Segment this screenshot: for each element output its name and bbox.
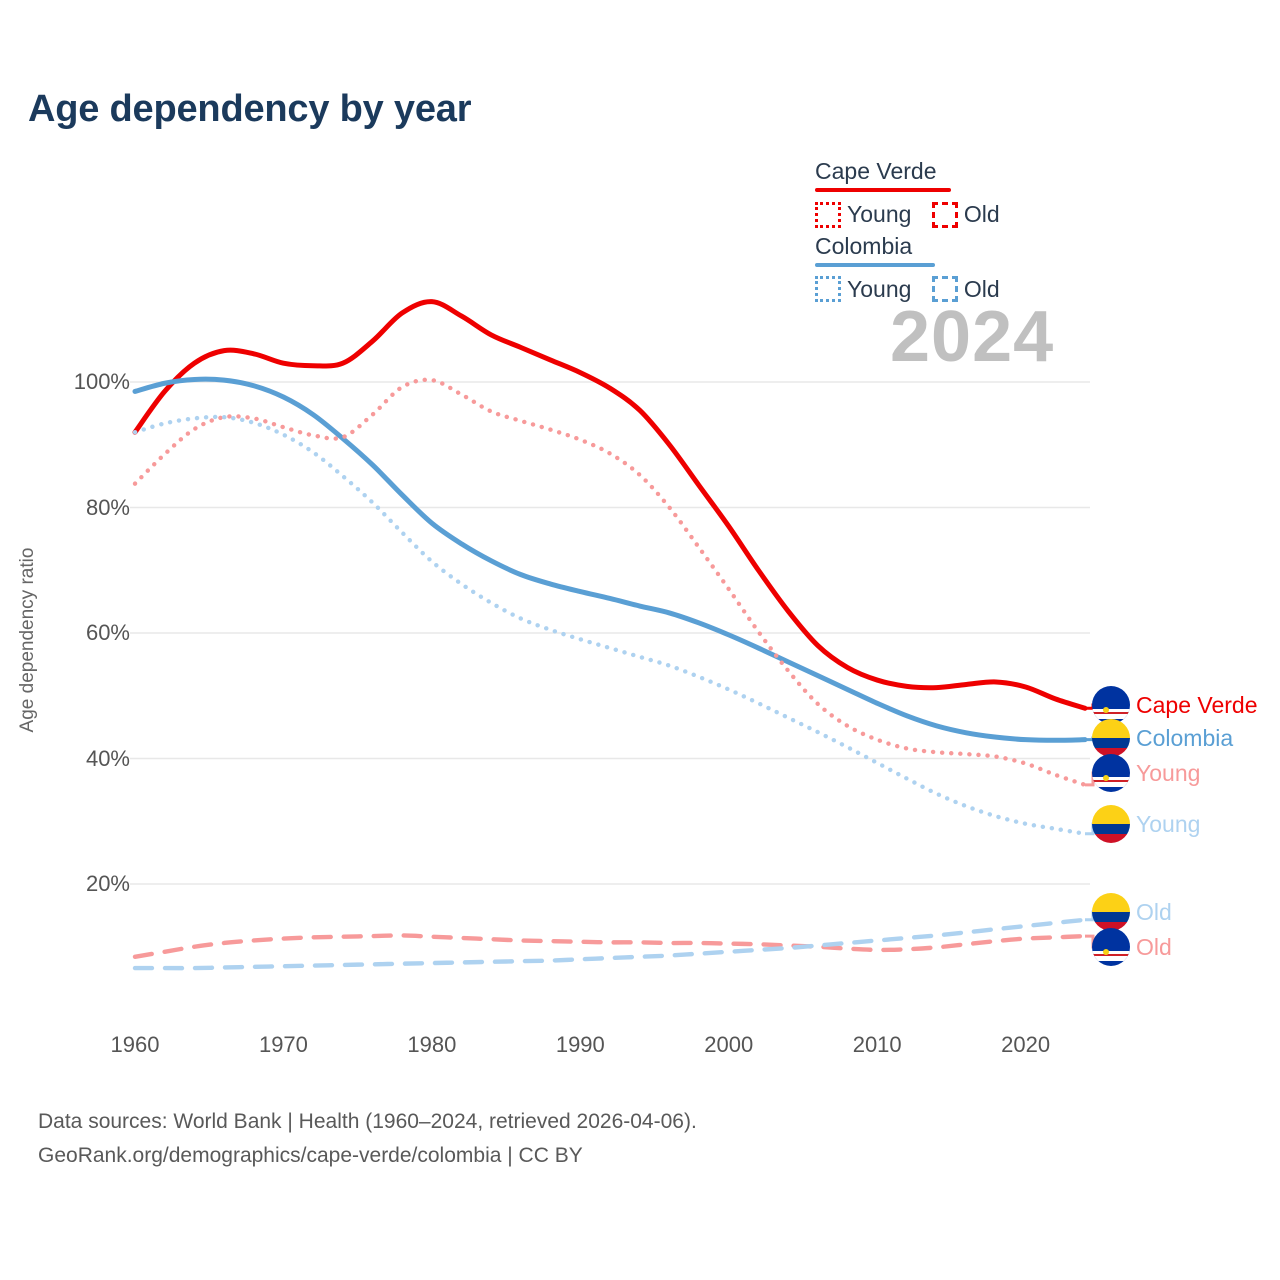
end-label-text: Colombia [1136,725,1233,752]
colombia-flag-icon [1092,805,1130,843]
colombia-flag-icon [1092,893,1130,931]
end-label-text: Old [1136,899,1172,926]
x-tick-label: 1960 [111,1032,160,1058]
x-tick-label: 1990 [556,1032,605,1058]
end-label[interactable]: Old [1092,928,1172,966]
y-tick-label: 80% [38,495,130,521]
end-label-text: Cape Verde [1136,692,1257,719]
end-label[interactable]: Young [1092,754,1200,792]
x-tick-label: 2020 [1001,1032,1050,1058]
series-line-colombia-old[interactable] [135,920,1085,968]
x-tick-label: 1980 [407,1032,456,1058]
cape-verde-flag-icon [1092,754,1130,792]
y-tick-label: 20% [38,871,130,897]
y-axis-ticks: 20%40%60%80%100% [12,0,130,1280]
y-tick-label: 60% [38,620,130,646]
y-tick-label: 40% [38,746,130,772]
y-tick-label: 100% [38,369,130,395]
colombia-flag-icon [1092,719,1130,757]
footer-data-sources: Data sources: World Bank | Health (1960–… [38,1105,697,1139]
x-tick-label: 2000 [704,1032,753,1058]
end-label-text: Young [1136,760,1200,787]
x-tick-label: 2010 [853,1032,902,1058]
end-label[interactable]: Young [1092,805,1200,843]
end-label[interactable]: Colombia [1092,719,1233,757]
series-line-cape-verde-young[interactable] [135,380,1085,785]
footer: Data sources: World Bank | Health (1960–… [38,1105,697,1173]
cape-verde-flag-icon [1092,928,1130,966]
end-label-text: Young [1136,811,1200,838]
line-chart-plot [0,0,1280,1280]
series-line-cape-verde-old[interactable] [135,935,1085,956]
series-line-colombia-young[interactable] [135,417,1085,834]
series-line-cape-verde[interactable] [135,302,1085,709]
footer-attribution: GeoRank.org/demographics/cape-verde/colo… [38,1139,697,1173]
end-label[interactable]: Old [1092,893,1172,931]
x-tick-label: 1970 [259,1032,308,1058]
end-label-text: Old [1136,934,1172,961]
